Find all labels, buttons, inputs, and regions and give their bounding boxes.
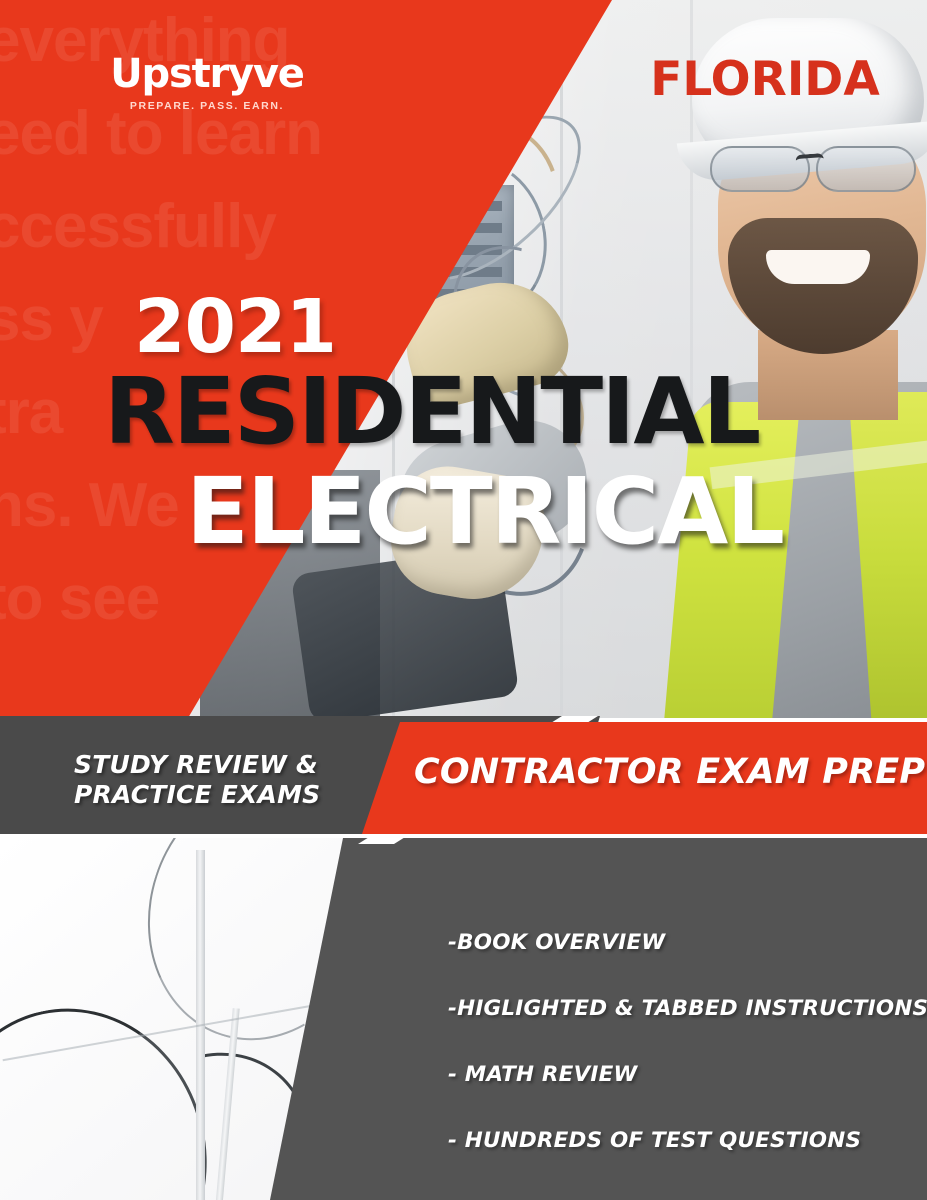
title-year: 2021 [134, 290, 336, 364]
glasses-lens-left [710, 146, 810, 192]
book-cover: everything eed to learn ccessfully ss y … [0, 0, 927, 1200]
safety-glasses-icon [710, 146, 927, 190]
list-item: - HUNDREDS OF TEST QUESTIONS [448, 1128, 927, 1153]
contractor-exam-prep-text: CONTRACTOR EXAM PREP [414, 752, 925, 792]
title-line-electrical: ELECTRICAL [186, 466, 783, 558]
study-review-line-2: PRACTICE EXAMS [74, 780, 320, 810]
glasses-lens-right [816, 146, 916, 192]
title-line-residential: RESIDENTIAL [104, 366, 759, 458]
list-item: - MATH REVIEW [448, 1062, 927, 1087]
features-list: -BOOK OVERVIEW -HIGLIGHTED & TABBED INST… [448, 930, 927, 1153]
state-name: FLORIDA [615, 52, 915, 107]
logo-wordmark: Upstryve [82, 54, 332, 94]
list-item: -BOOK OVERVIEW [448, 930, 927, 955]
list-item: -HIGLIGHTED & TABBED INSTRUCTIONS [448, 996, 927, 1021]
logo-tagline: PREPARE. PASS. EARN. [82, 100, 332, 112]
study-review-text: STUDY REVIEW & PRACTICE EXAMS [74, 750, 320, 809]
glasses-bridge [795, 153, 824, 173]
worker-smile [766, 250, 870, 284]
upstryve-logo: Upstryve PREPARE. PASS. EARN. [82, 54, 332, 112]
study-review-line-1: STUDY REVIEW & [74, 750, 320, 780]
